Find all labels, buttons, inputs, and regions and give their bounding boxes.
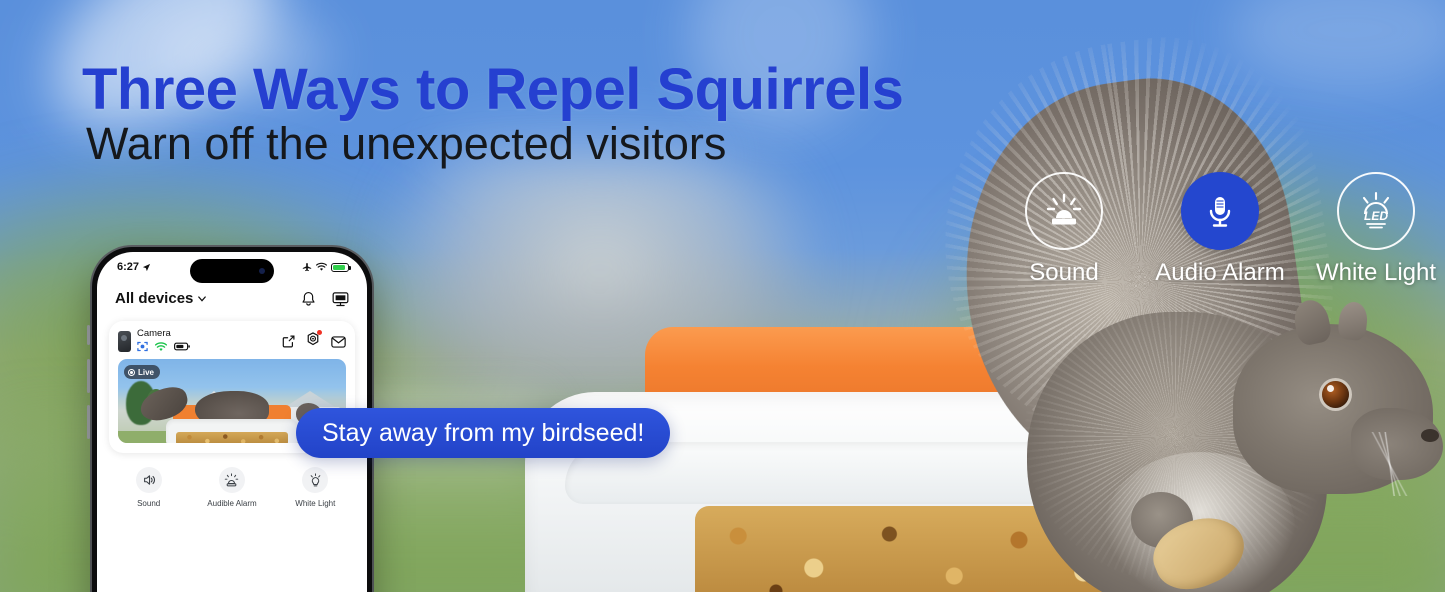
live-badge-label: Live xyxy=(138,368,154,377)
status-right xyxy=(302,262,349,272)
share-icon[interactable] xyxy=(282,335,295,348)
device-card-actions xyxy=(282,329,346,351)
hero-banner: Three Ways to Repel Squirrels Warn off t… xyxy=(0,0,1445,592)
feature-sound[interactable]: Sound xyxy=(995,172,1133,287)
status-time: 6:27 xyxy=(117,261,139,273)
microphone-icon xyxy=(1200,191,1240,231)
quick-action-audible-alarm[interactable]: Audible Alarm xyxy=(194,467,270,508)
siren-small-icon-circle xyxy=(219,467,245,493)
speaker-icon-circle xyxy=(136,467,162,493)
siren-icon-circle xyxy=(1025,172,1103,250)
speaker-icon xyxy=(142,473,156,487)
feature-label: Audio Alarm xyxy=(1155,259,1284,287)
bulb-icon-circle xyxy=(302,467,328,493)
microphone-icon-circle xyxy=(1181,172,1259,250)
device-status-icons xyxy=(137,341,276,352)
device-meta: Camera xyxy=(137,329,276,352)
quick-actions: Sound xyxy=(97,453,367,508)
airplane-mode-icon xyxy=(302,262,312,272)
repel-methods-list: Sound Audio Alarm xyxy=(995,172,1445,287)
record-dot-icon xyxy=(128,369,135,376)
monitor-cast-icon[interactable] xyxy=(332,291,349,307)
settings-icon-wrap[interactable] xyxy=(306,332,320,351)
chevron-down-icon xyxy=(198,296,206,302)
messages-icon[interactable] xyxy=(331,336,346,348)
device-name: Camera xyxy=(137,329,276,339)
device-filter-label: All devices xyxy=(115,290,193,307)
feature-audio-alarm[interactable]: Audio Alarm xyxy=(1151,172,1289,287)
app-header: All devices xyxy=(97,278,367,315)
location-arrow-icon xyxy=(142,263,151,272)
device-card-header: Camera xyxy=(118,329,346,352)
feature-white-light[interactable]: LED White Light xyxy=(1307,172,1445,287)
phone-volume-down-button[interactable] xyxy=(87,405,90,439)
bulb-icon xyxy=(308,473,323,488)
page-subtitle: Warn off the unexpected visitors xyxy=(86,118,726,170)
siren-icon xyxy=(1043,190,1085,232)
wifi-icon xyxy=(316,262,327,272)
feature-label: White Light xyxy=(1316,259,1436,287)
phone-silent-switch[interactable] xyxy=(87,325,90,345)
led-icon-circle: LED xyxy=(1337,172,1415,250)
siren-small-icon xyxy=(224,473,239,488)
status-left: 6:27 xyxy=(117,261,151,273)
wifi-signal-icon xyxy=(155,342,167,352)
battery-icon xyxy=(331,263,349,272)
quick-action-label: Audible Alarm xyxy=(207,499,256,508)
bell-icon[interactable] xyxy=(301,291,316,307)
ai-detection-icon xyxy=(137,341,148,352)
front-camera-icon xyxy=(259,268,265,274)
notification-badge xyxy=(317,330,322,335)
preview-birdseed xyxy=(176,432,288,443)
device-filter-dropdown[interactable]: All devices xyxy=(115,290,206,307)
quick-action-sound[interactable]: Sound xyxy=(111,467,187,508)
live-badge: Live xyxy=(124,365,160,379)
page-title: Three Ways to Repel Squirrels xyxy=(82,56,903,123)
phone-volume-up-button[interactable] xyxy=(87,359,90,393)
battery-level-icon xyxy=(174,342,190,351)
quick-action-label: Sound xyxy=(137,499,160,508)
header-actions xyxy=(301,291,349,307)
dynamic-island xyxy=(190,259,274,283)
camera-thumbnail-icon xyxy=(118,331,131,352)
led-icon: LED xyxy=(1353,188,1399,234)
svg-text:LED: LED xyxy=(1364,209,1388,223)
speech-bubble: Stay away from my birdseed! xyxy=(296,408,670,458)
quick-action-label: White Light xyxy=(295,499,335,508)
quick-action-white-light[interactable]: White Light xyxy=(277,467,353,508)
feature-label: Sound xyxy=(1029,259,1098,287)
